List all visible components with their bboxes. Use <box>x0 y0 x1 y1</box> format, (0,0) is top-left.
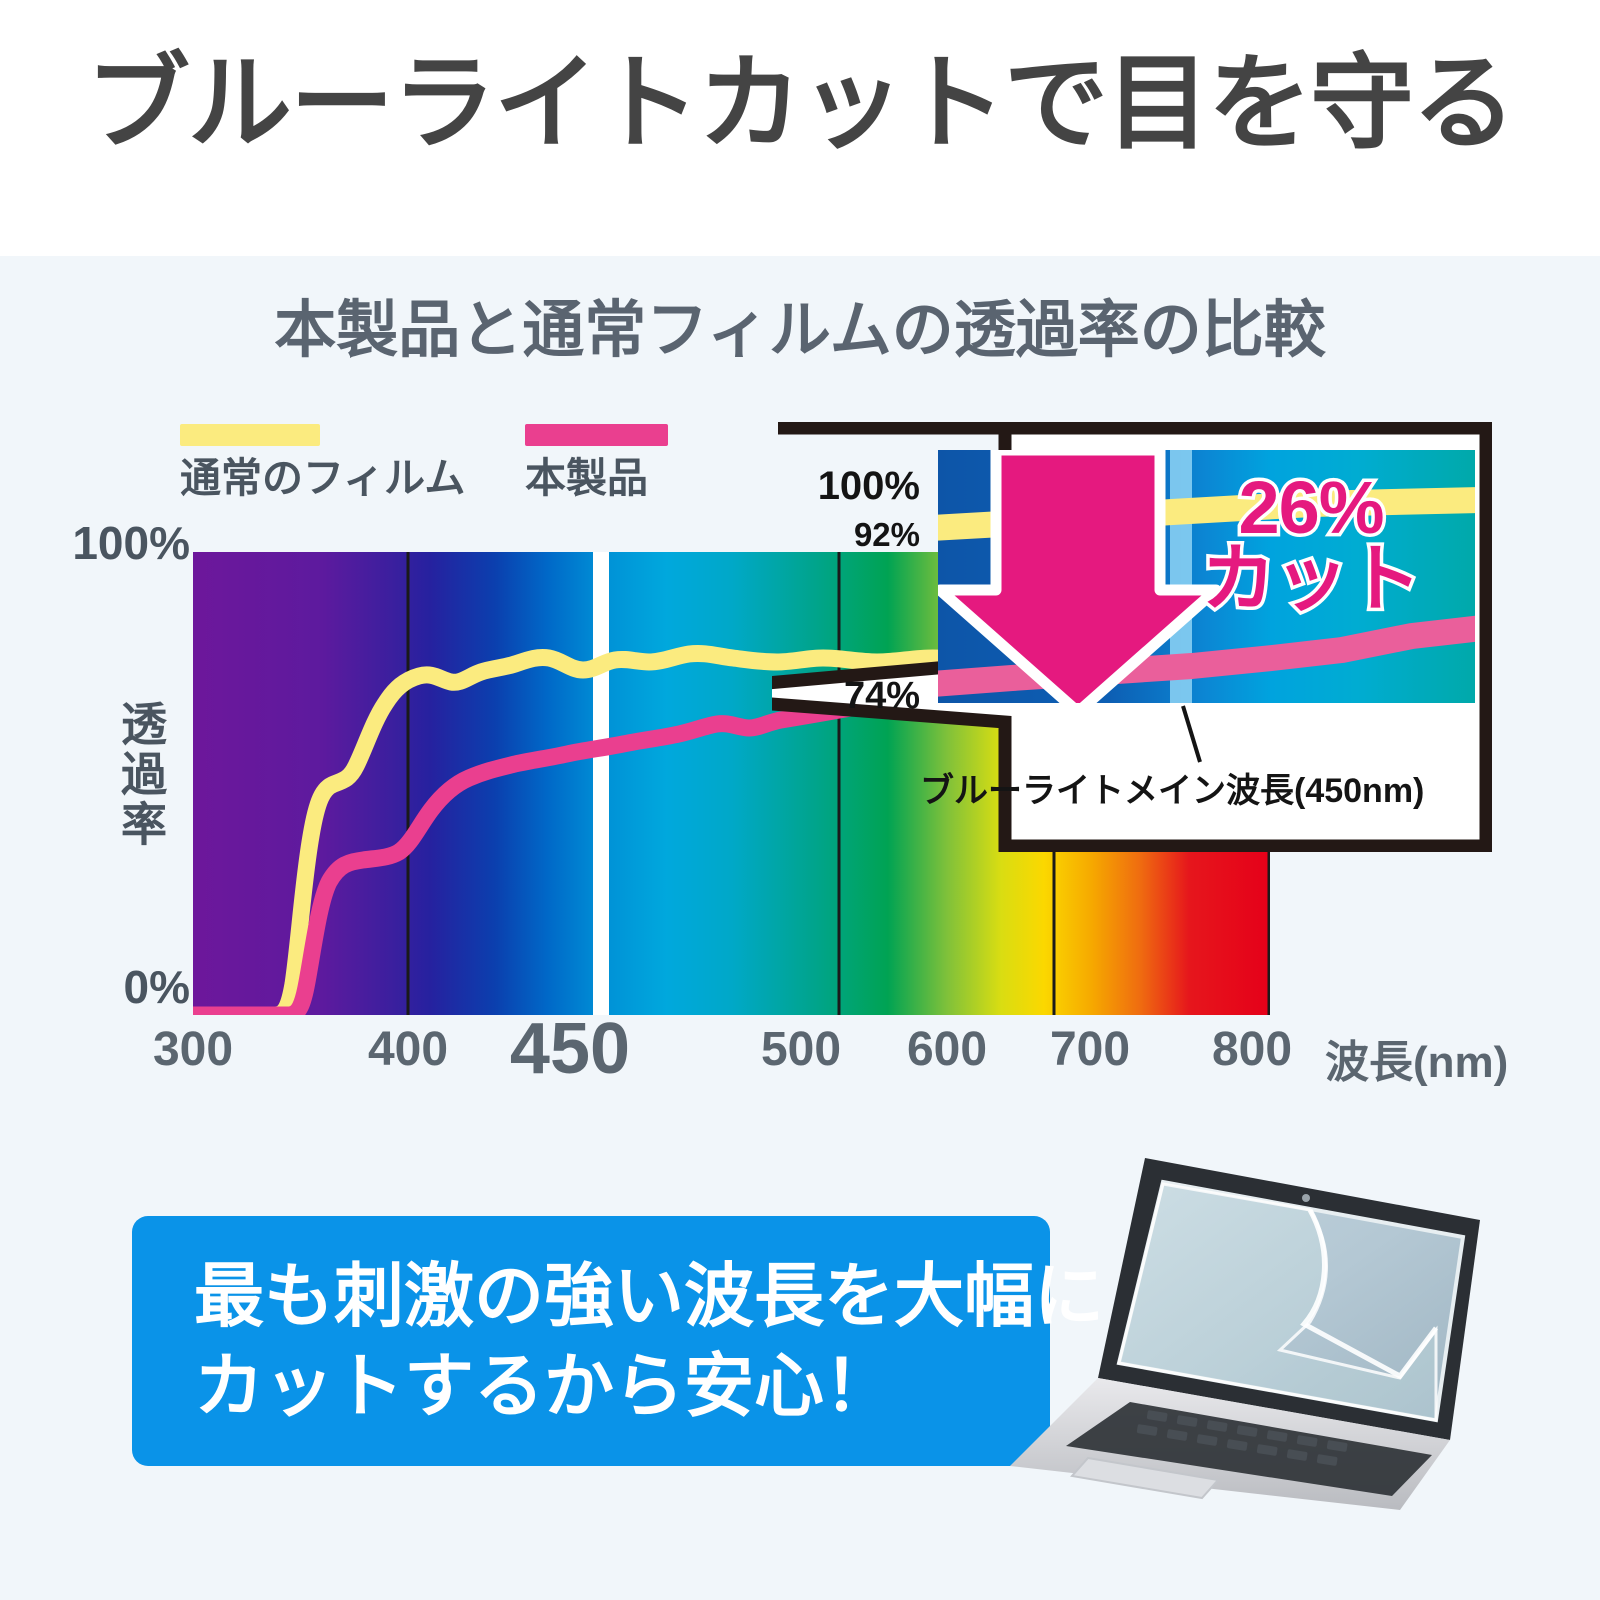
laptop-illustration <box>980 1110 1540 1530</box>
y-axis-title: 透過率 <box>108 700 164 850</box>
laptop-product-image <box>980 1110 1540 1530</box>
x-axis-unit-label: 波長(nm) <box>1325 1026 1508 1090</box>
highlight-450nm-band <box>593 552 609 1015</box>
inset-label-74: 74% <box>802 677 920 715</box>
cut-percentage-value: 26% <box>1166 472 1456 543</box>
x-tick-700: 700 <box>1050 1022 1130 1077</box>
banner-line-2: カットするから安心！ <box>194 1342 1014 1432</box>
y-axis-max-label: 100% <box>60 516 190 570</box>
x-tick-300: 300 <box>153 1022 233 1077</box>
cut-percentage-text: 26% カット <box>1166 472 1456 614</box>
x-tick-600: 600 <box>907 1022 987 1077</box>
inset-label-100: 100% <box>786 466 920 506</box>
inset-caption: ブルーライトメイン波長(450nm) <box>920 774 1480 808</box>
y-axis-min-label: 0% <box>60 960 190 1014</box>
x-tick-500: 500 <box>761 1022 841 1077</box>
cut-percentage-unit: カット <box>1166 543 1456 614</box>
banner-line-1: 最も刺激の強い波長を大幅に <box>194 1252 1014 1342</box>
x-tick-450: 450 <box>510 1008 630 1090</box>
bottom-banner: 最も刺激の強い波長を大幅に カットするから安心！ <box>132 1216 1050 1466</box>
x-tick-400: 400 <box>368 1022 448 1077</box>
x-tick-800: 800 <box>1212 1022 1292 1077</box>
inset-label-92: 92% <box>810 518 920 551</box>
banner-text: 最も刺激の強い波長を大幅に カットするから安心！ <box>194 1252 1014 1431</box>
webcam-icon <box>1302 1194 1310 1202</box>
callout-panel: 100% 92% 74% 26% カット ブルーライトメイン波長(450nm) <box>772 422 1492 852</box>
